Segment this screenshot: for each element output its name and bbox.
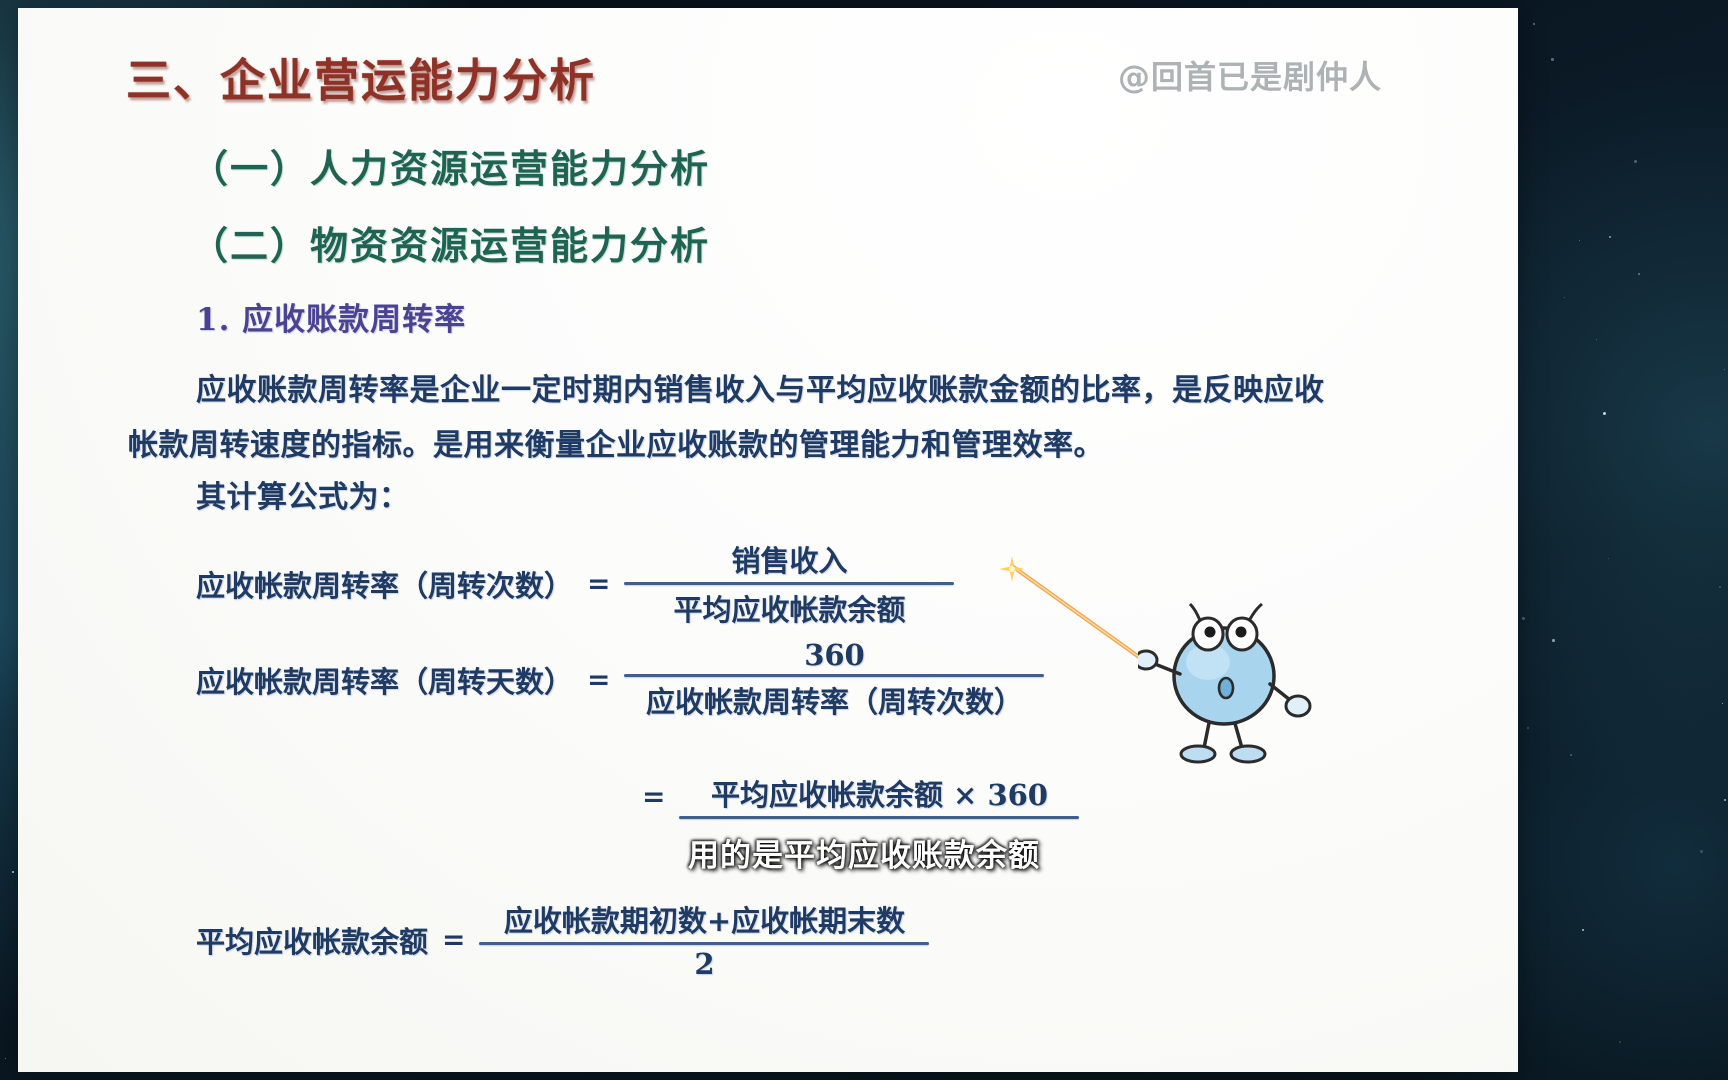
sub-heading: 1. 应收账款周转率 <box>196 294 466 339</box>
formula-2-equals: = <box>587 663 610 696</box>
formula-3-numerator: 平均应收帐款余额 × 360 <box>701 770 1058 816</box>
formula-3-equals: = <box>642 780 665 813</box>
formula-2-lhs: 应收帐款周转率（周转天数） <box>196 659 573 701</box>
page-title: 三、企业营运能力分析 <box>126 44 596 109</box>
formula-2-numerator: 360 <box>794 636 875 674</box>
formula-4-equals: = <box>442 923 465 956</box>
formula-turnover-days: 应收帐款周转率（周转天数） = 360 应收帐款周转率（周转次数） <box>196 636 1044 723</box>
formula-average-receivables: 平均应收帐款余额 = 应收帐款期初数+应收帐期末数 2 <box>196 896 929 983</box>
presentation-slide: 三、企业营运能力分析 （一）人力资源运营能力分析 （二）物资资源运营能力分析 1… <box>18 8 1518 1072</box>
formula-2-fraction: 360 应收帐款周转率（周转次数） <box>624 636 1044 723</box>
formula-4-fraction: 应收帐款期初数+应收帐期末数 2 <box>479 896 929 983</box>
paragraph-line-2: 帐款周转速度的指标。是用来衡量企业应收账款的管理能力和管理效率。 <box>128 420 1104 464</box>
formula-4-lhs: 平均应收帐款余额 <box>196 919 428 961</box>
channel-watermark: @回首已是剧仲人 <box>1118 52 1382 98</box>
formula-intro-label: 其计算公式为： <box>196 472 410 516</box>
formula-1-denominator: 平均应收帐款余额 <box>663 585 915 631</box>
video-player-frame: 三、企业营运能力分析 （一）人力资源运营能力分析 （二）物资资源运营能力分析 1… <box>0 0 1728 1080</box>
formula-3-denominator <box>869 819 889 823</box>
formula-1-fraction: 销售收入 平均应收帐款余额 <box>624 536 954 631</box>
sparkle-icon <box>999 556 1025 582</box>
formula-turnover-times: 应收帐款周转率（周转次数） = 销售收入 平均应收帐款余额 <box>196 536 954 631</box>
formula-1-numerator: 销售收入 <box>721 536 857 582</box>
paragraph-line-1: 应收账款周转率是企业一定时期内销售收入与平均应收账款金额的比率，是反映应收 <box>196 365 1325 409</box>
section-heading-2: （二）物资资源运营能力分析 <box>190 215 710 270</box>
formula-1-equals: = <box>587 567 610 600</box>
formula-1-lhs: 应收帐款周转率（周转次数） <box>196 563 573 605</box>
formula-3-fraction: 平均应收帐款余额 × 360 <box>679 770 1079 823</box>
formula-4-denominator: 2 <box>684 945 724 983</box>
formula-2-denominator: 应收帐款周转率（周转次数） <box>636 677 1033 723</box>
formula-4-numerator: 应收帐款期初数+应收帐期末数 <box>494 896 915 942</box>
formula-turnover-days-expanded: = 平均应收帐款余额 × 360 <box>628 770 1079 823</box>
video-subtitle: 用的是平均应收账款余额 <box>0 830 1728 875</box>
mascot-character-icon <box>1138 588 1318 778</box>
section-heading-1: （一）人力资源运营能力分析 <box>190 138 710 193</box>
